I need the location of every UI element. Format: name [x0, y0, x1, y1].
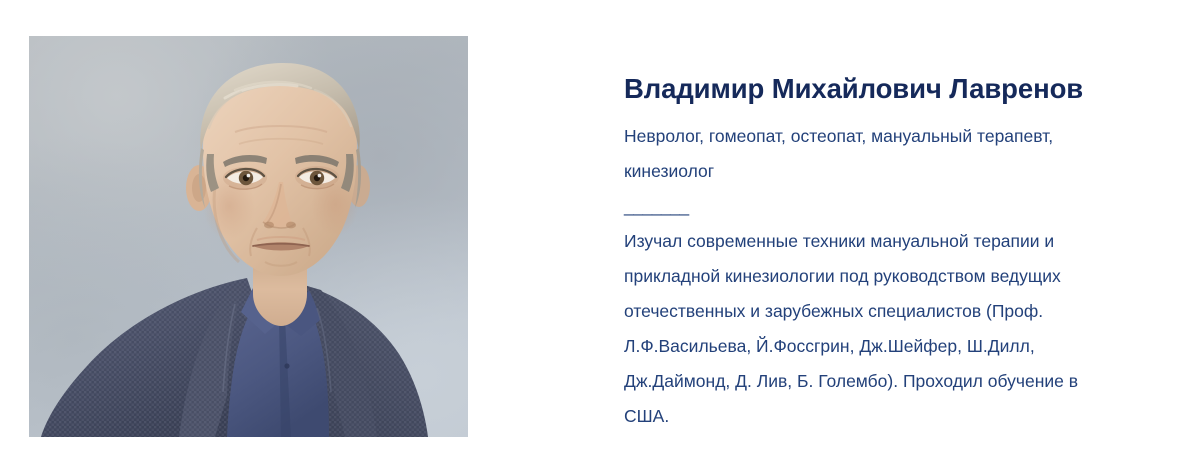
doctor-biography: Изучал современные техники мануальной те… [624, 224, 1094, 434]
doctor-specialties: Невролог, гомеопат, остеопат, мануальный… [624, 119, 1094, 189]
doctor-portrait-photo [29, 36, 468, 437]
section-divider: _______ [624, 189, 1124, 224]
portrait-illustration [29, 36, 468, 437]
doctor-info-column: Владимир Михайлович Лавренов Невролог, г… [624, 72, 1124, 434]
doctor-profile-card: Владимир Михайлович Лавренов Невролог, г… [0, 0, 1204, 456]
doctor-name: Владимир Михайлович Лавренов [624, 72, 1124, 105]
